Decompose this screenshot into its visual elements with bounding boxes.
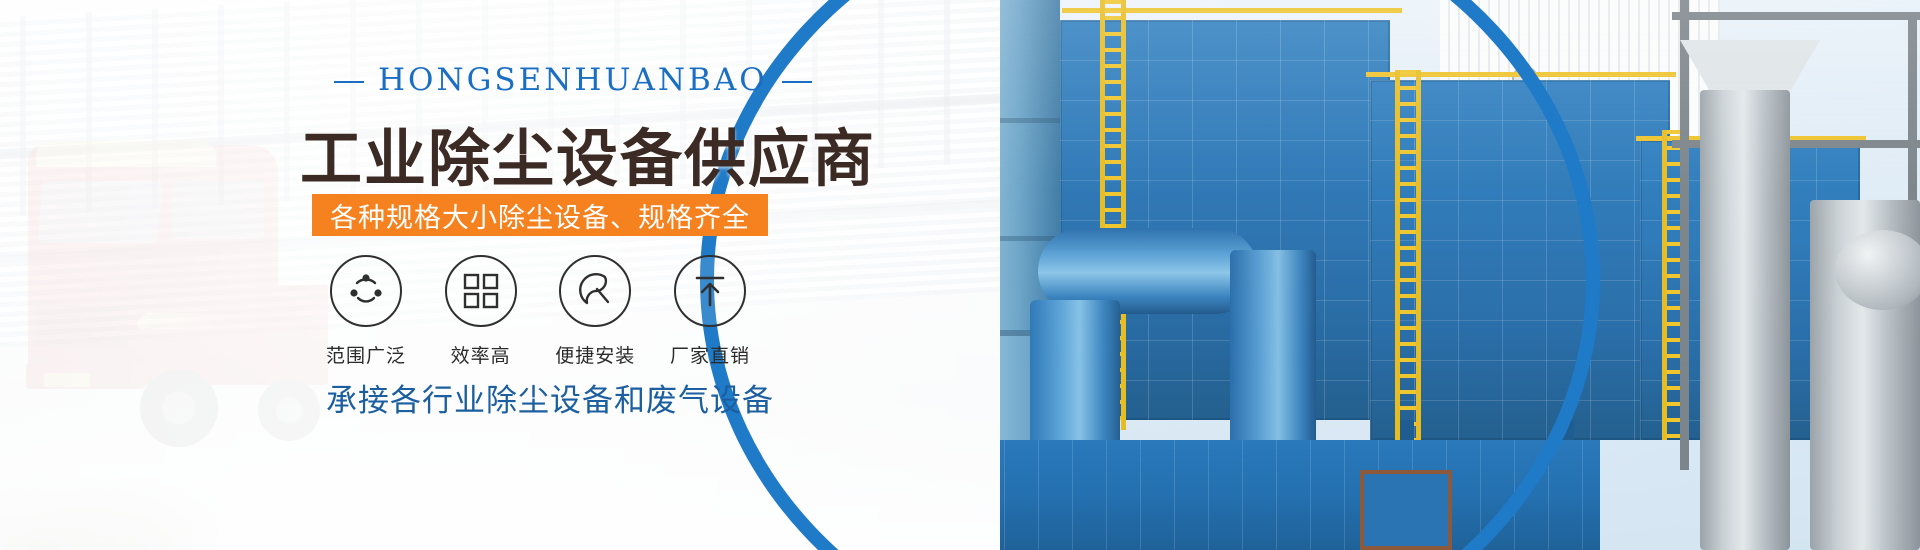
feature-list: 范围广泛 效率高 bbox=[318, 255, 758, 368]
feature-item-factory-direct[interactable]: 厂家直销 bbox=[662, 255, 758, 368]
grid-squares-icon bbox=[462, 272, 500, 310]
steel-frame bbox=[1672, 12, 1920, 20]
upload-arrow-icon bbox=[691, 272, 729, 310]
eyebrow-text: HONGSENHUANBAO bbox=[378, 62, 768, 98]
feature-label: 范围广泛 bbox=[318, 341, 414, 368]
banner-content: HONGSENHUANBAO 工业除尘设备供应商 各种规格大小除尘设备、规格齐全… bbox=[0, 0, 900, 550]
feature-label: 效率高 bbox=[433, 341, 529, 368]
subtitle-orange-band: 各种规格大小除尘设备、规格齐全 bbox=[312, 194, 768, 236]
feature-item-efficiency[interactable]: 效率高 bbox=[433, 255, 529, 368]
feature-label: 厂家直销 bbox=[662, 341, 758, 368]
access-door bbox=[1360, 470, 1452, 550]
feature-icon-circle bbox=[445, 255, 517, 327]
promotional-banner: HONGSENHUANBAO 工业除尘设备供应商 各种规格大小除尘设备、规格齐全… bbox=[0, 0, 1920, 550]
feature-item-install[interactable]: 便捷安装 bbox=[547, 255, 643, 368]
wrench-tool-icon bbox=[575, 271, 615, 311]
duct-downcomer bbox=[1230, 250, 1316, 450]
brand-eyebrow: HONGSENHUANBAO bbox=[320, 62, 780, 98]
feature-icon-circle bbox=[330, 255, 402, 327]
feature-icon-circle bbox=[559, 255, 631, 327]
share-nodes-icon bbox=[346, 271, 386, 311]
feature-label: 便捷安装 bbox=[547, 341, 643, 368]
page-title: 工业除尘设备供应商 bbox=[300, 108, 860, 198]
subtitle-text: 各种规格大小除尘设备、规格齐全 bbox=[330, 196, 750, 235]
pressure-vessel bbox=[1835, 230, 1920, 310]
eyebrow-dash-left bbox=[334, 81, 364, 83]
eyebrow-dash-right bbox=[782, 81, 812, 83]
yellow-ladder bbox=[1395, 70, 1421, 450]
feature-icon-circle bbox=[674, 255, 746, 327]
banner-tagline: 承接各行业除尘设备和废气设备 bbox=[320, 375, 780, 420]
scrubber-tower bbox=[1700, 90, 1790, 550]
feature-item-range[interactable]: 范围广泛 bbox=[318, 255, 414, 368]
